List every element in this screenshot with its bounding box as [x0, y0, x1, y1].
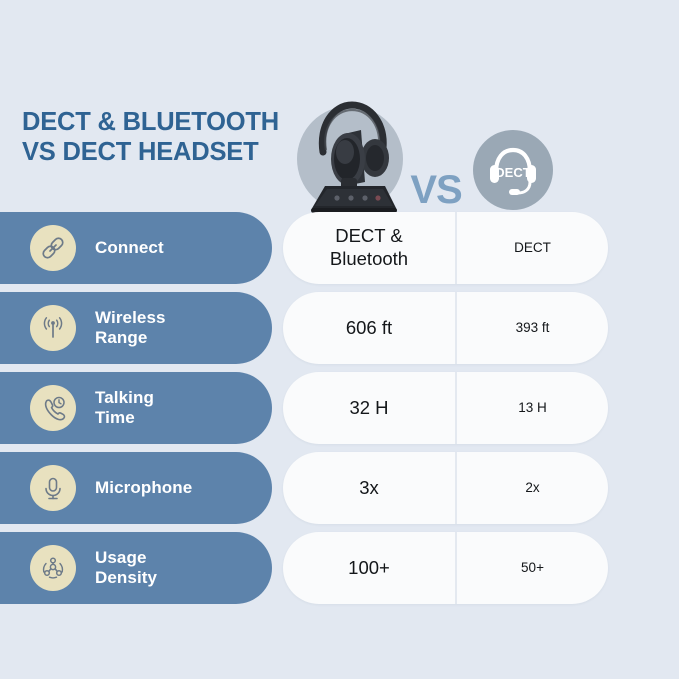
table-row: Wireless Range 606 ft 393 ft [0, 292, 679, 364]
feature-pill-microphone: Microphone [0, 452, 272, 524]
value-card: 3x 2x [283, 452, 608, 524]
title-line-2: VS DECT HEADSET [22, 138, 312, 168]
table-row: Talking Time 32 H 13 H [0, 372, 679, 444]
feature-label-line-1: Talking [95, 388, 154, 407]
network-density-icon [30, 545, 76, 591]
feature-label-line-2: Time [95, 408, 135, 427]
value-card: 100+ 50+ [283, 532, 608, 604]
title-line-1: DECT & BLUETOOTH [22, 108, 312, 138]
dect-headset-badge-icon: DECT [473, 130, 553, 210]
microphone-icon [30, 465, 76, 511]
feature-pill-usage-density: Usage Density [0, 532, 272, 604]
feature-label-line-1: Usage [95, 548, 147, 567]
feature-pill-talking-time: Talking Time [0, 372, 272, 444]
feature-label: Connect [95, 238, 164, 258]
value-secondary: 50+ [455, 532, 608, 604]
page-title: DECT & BLUETOOTH VS DECT HEADSET [22, 108, 312, 167]
value-primary-text: DECT &Bluetooth [330, 225, 408, 270]
value-primary: 32 H [283, 372, 455, 444]
feature-label: Microphone [95, 478, 192, 498]
value-secondary: 393 ft [455, 292, 608, 364]
feature-label-line-2: Range [95, 328, 147, 347]
value-card: 606 ft 393 ft [283, 292, 608, 364]
value-card: DECT &Bluetooth DECT [283, 212, 608, 284]
value-secondary: 2x [455, 452, 608, 524]
value-primary: 3x [283, 452, 455, 524]
table-row: Usage Density 100+ 50+ [0, 532, 679, 604]
hero-product-comparison: DECT VS [283, 88, 613, 213]
value-secondary: DECT [455, 212, 608, 284]
dect-badge-text: DECT [495, 165, 530, 180]
value-primary: 100+ [283, 532, 455, 604]
feature-label-line-1: Microphone [95, 478, 192, 497]
feature-label-line-1: Wireless [95, 308, 166, 327]
vs-label: VS [401, 170, 471, 210]
headset-with-charging-base-photo [289, 86, 414, 214]
phone-clock-icon [30, 385, 76, 431]
value-primary: 606 ft [283, 292, 455, 364]
comparison-rows: Connect DECT &Bluetooth DECT [0, 212, 679, 612]
feature-label: Talking Time [95, 388, 154, 427]
wireless-signal-icon [30, 305, 76, 351]
feature-label: Wireless Range [95, 308, 166, 347]
feature-label-line-1: Connect [95, 238, 164, 257]
feature-pill-connect: Connect [0, 212, 272, 284]
table-row: Microphone 3x 2x [0, 452, 679, 524]
link-icon [30, 225, 76, 271]
feature-label: Usage Density [95, 548, 157, 587]
value-secondary: 13 H [455, 372, 608, 444]
comparison-infographic: DECT & BLUETOOTH VS DECT HEADSET [0, 0, 679, 679]
value-primary: DECT &Bluetooth [283, 212, 455, 284]
value-card: 32 H 13 H [283, 372, 608, 444]
feature-pill-wireless-range: Wireless Range [0, 292, 272, 364]
table-row: Connect DECT &Bluetooth DECT [0, 212, 679, 284]
feature-label-line-2: Density [95, 568, 157, 587]
